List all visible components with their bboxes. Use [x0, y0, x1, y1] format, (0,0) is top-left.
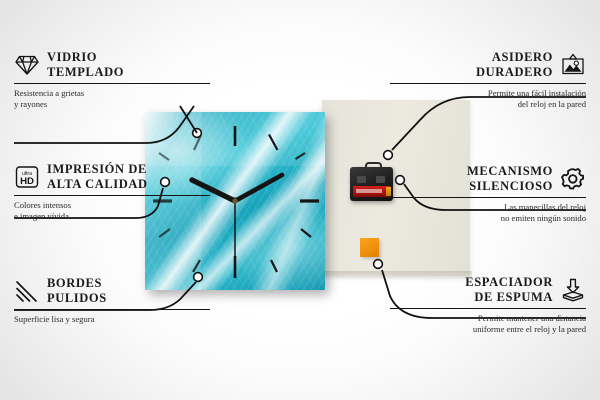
diamond-icon — [14, 52, 40, 78]
divider — [390, 83, 586, 85]
feature-desc-line1: Colores intensos — [14, 200, 210, 211]
divider — [14, 195, 210, 197]
ultra-hd-main-label: HD — [20, 176, 34, 187]
feature-title-line1: ESPACIADOR — [465, 275, 553, 290]
feature-desc-line1: Permite una fácil instalación — [390, 88, 586, 99]
divider — [14, 83, 210, 85]
feature-title-line1: IMPRESIÓN DE — [47, 162, 148, 177]
foam-spacer-icon — [560, 277, 586, 303]
feature-asidero-duradero: ASIDERO DURADERO Permite una fácil insta… — [390, 50, 586, 111]
divider — [14, 309, 210, 311]
feature-desc-line1: Superficie lisa y segura — [14, 314, 210, 325]
divider — [390, 308, 586, 310]
feature-desc-line1: Resistencia a grietas — [14, 88, 210, 99]
feature-mecanismo-silencioso: MECANISMO SILENCIOSO Las manecillas del … — [390, 164, 586, 225]
ultra-hd-icon: ultra HD — [14, 164, 40, 190]
feature-vidrio-templado: VIDRIO TEMPLADO Resistencia a grietas y … — [14, 50, 210, 111]
battery-label — [356, 189, 382, 193]
divider — [390, 197, 586, 199]
feature-bordes-pulidos: BORDES PULIDOS Superficie lisa y segura — [14, 276, 210, 325]
polished-edges-icon — [14, 278, 40, 304]
feature-title-line2: DE ESPUMA — [465, 290, 553, 305]
feature-desc-line2: y rayones — [14, 99, 210, 110]
feature-title-line2: ALTA CALIDAD — [47, 177, 148, 192]
feature-title-line1: ASIDERO — [476, 50, 553, 65]
feature-espaciador-de-espuma: ESPACIADOR DE ESPUMA Permite mantener un… — [390, 275, 586, 336]
feature-title-line2: TEMPLADO — [47, 65, 124, 80]
feature-desc-line2: uniforme entre el reloj y la pared — [390, 324, 586, 335]
feature-title-line2: SILENCIOSO — [467, 179, 553, 194]
feature-title-line1: BORDES — [47, 276, 107, 291]
feature-desc-line2: del reloj en la pared — [390, 99, 586, 110]
hanging-picture-icon — [560, 52, 586, 78]
feature-title-line1: MECANISMO — [467, 164, 553, 179]
foam-spacer — [360, 238, 379, 257]
feature-impresion-alta-calidad: ultra HD IMPRESIÓN DE ALTA CALIDAD Color… — [14, 162, 210, 223]
feature-desc-line1: Las manecillas del reloj — [390, 202, 586, 213]
feature-desc-line2: no emiten ningún sonido — [390, 213, 586, 224]
feature-desc-line2: e imagen vívida — [14, 211, 210, 222]
mechanism-detail — [357, 176, 366, 183]
feature-title-line1: VIDRIO — [47, 50, 124, 65]
infographic-scene: VIDRIO TEMPLADO Resistencia a grietas y … — [0, 0, 600, 400]
mechanism-detail — [376, 176, 385, 183]
feature-title-line2: DURADERO — [476, 65, 553, 80]
feature-title-line2: PULIDOS — [47, 291, 107, 306]
feature-desc-line1: Permite mantener una distancia — [390, 313, 586, 324]
gear-icon — [560, 166, 586, 192]
clock-mechanism — [350, 162, 393, 201]
